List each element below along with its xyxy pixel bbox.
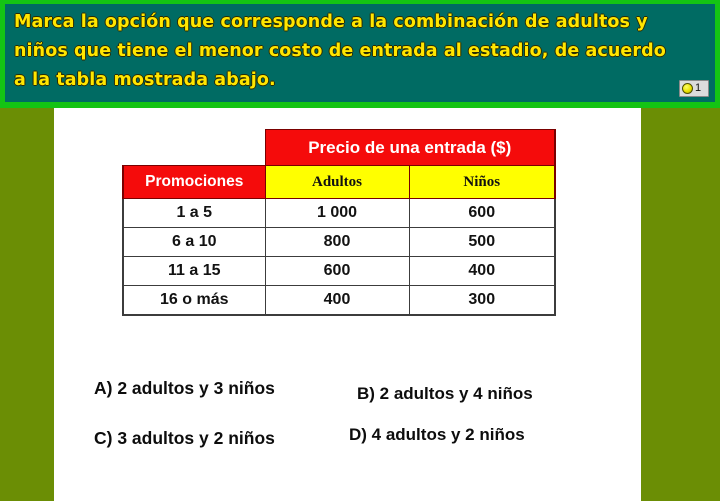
answer-option-d[interactable]: D) 4 adultos y 2 niños — [349, 425, 525, 445]
table-row-header-label: Promociones — [123, 166, 265, 199]
question-banner: Marca la opción que corresponde a la com… — [0, 0, 720, 108]
answer-option-a[interactable]: A) 2 adultos y 3 niños — [94, 378, 275, 399]
table-cell-adults: 400 — [265, 286, 409, 316]
table-cell-promo: 1 a 5 — [123, 199, 265, 228]
table-row-title: Precio de una entrada ($) — [123, 130, 555, 166]
question-slide-screen: Marca la opción que corresponde a la com… — [0, 0, 720, 501]
answer-option-c[interactable]: C) 3 adultos y 2 niños — [94, 428, 275, 449]
slide-content-area: Precio de una entrada ($) Promociones Ad… — [54, 108, 641, 501]
table-title-cell: Precio de una entrada ($) — [265, 130, 555, 166]
table-cell-adults: 1 000 — [265, 199, 409, 228]
answer-options-group: A) 2 adultos y 3 niños B) 2 adultos y 4 … — [54, 370, 641, 480]
page-counter-badge[interactable]: 1 — [679, 80, 709, 97]
table-cell-promo: 16 o más — [123, 286, 265, 316]
table-corner-blank — [123, 130, 265, 166]
table-column-header-adults: Adultos — [265, 166, 409, 199]
table-row-headers: Promociones Adultos Niños — [123, 166, 555, 199]
table-column-header-kids: Niños — [409, 166, 555, 199]
page-counter-number: 1 — [695, 83, 701, 94]
table-row: 16 o más 400 300 — [123, 286, 555, 316]
ticket-price-table: Precio de una entrada ($) Promociones Ad… — [122, 129, 556, 316]
table-cell-kids: 400 — [409, 257, 555, 286]
table-cell-kids: 300 — [409, 286, 555, 316]
table-row: 11 a 15 600 400 — [123, 257, 555, 286]
table-row: 1 a 5 1 000 600 — [123, 199, 555, 228]
table-cell-adults: 600 — [265, 257, 409, 286]
question-prompt-text: Marca la opción que corresponde a la com… — [14, 8, 674, 95]
table-cell-kids: 500 — [409, 228, 555, 257]
right-side-panel — [641, 108, 720, 501]
table-row: 6 a 10 800 500 — [123, 228, 555, 257]
table-cell-promo: 6 a 10 — [123, 228, 265, 257]
table-cell-adults: 800 — [265, 228, 409, 257]
table-cell-promo: 11 a 15 — [123, 257, 265, 286]
answer-option-b[interactable]: B) 2 adultos y 4 niños — [357, 384, 533, 404]
table-cell-kids: 600 — [409, 199, 555, 228]
yellow-circle-icon — [682, 83, 693, 94]
left-side-panel — [0, 108, 54, 501]
